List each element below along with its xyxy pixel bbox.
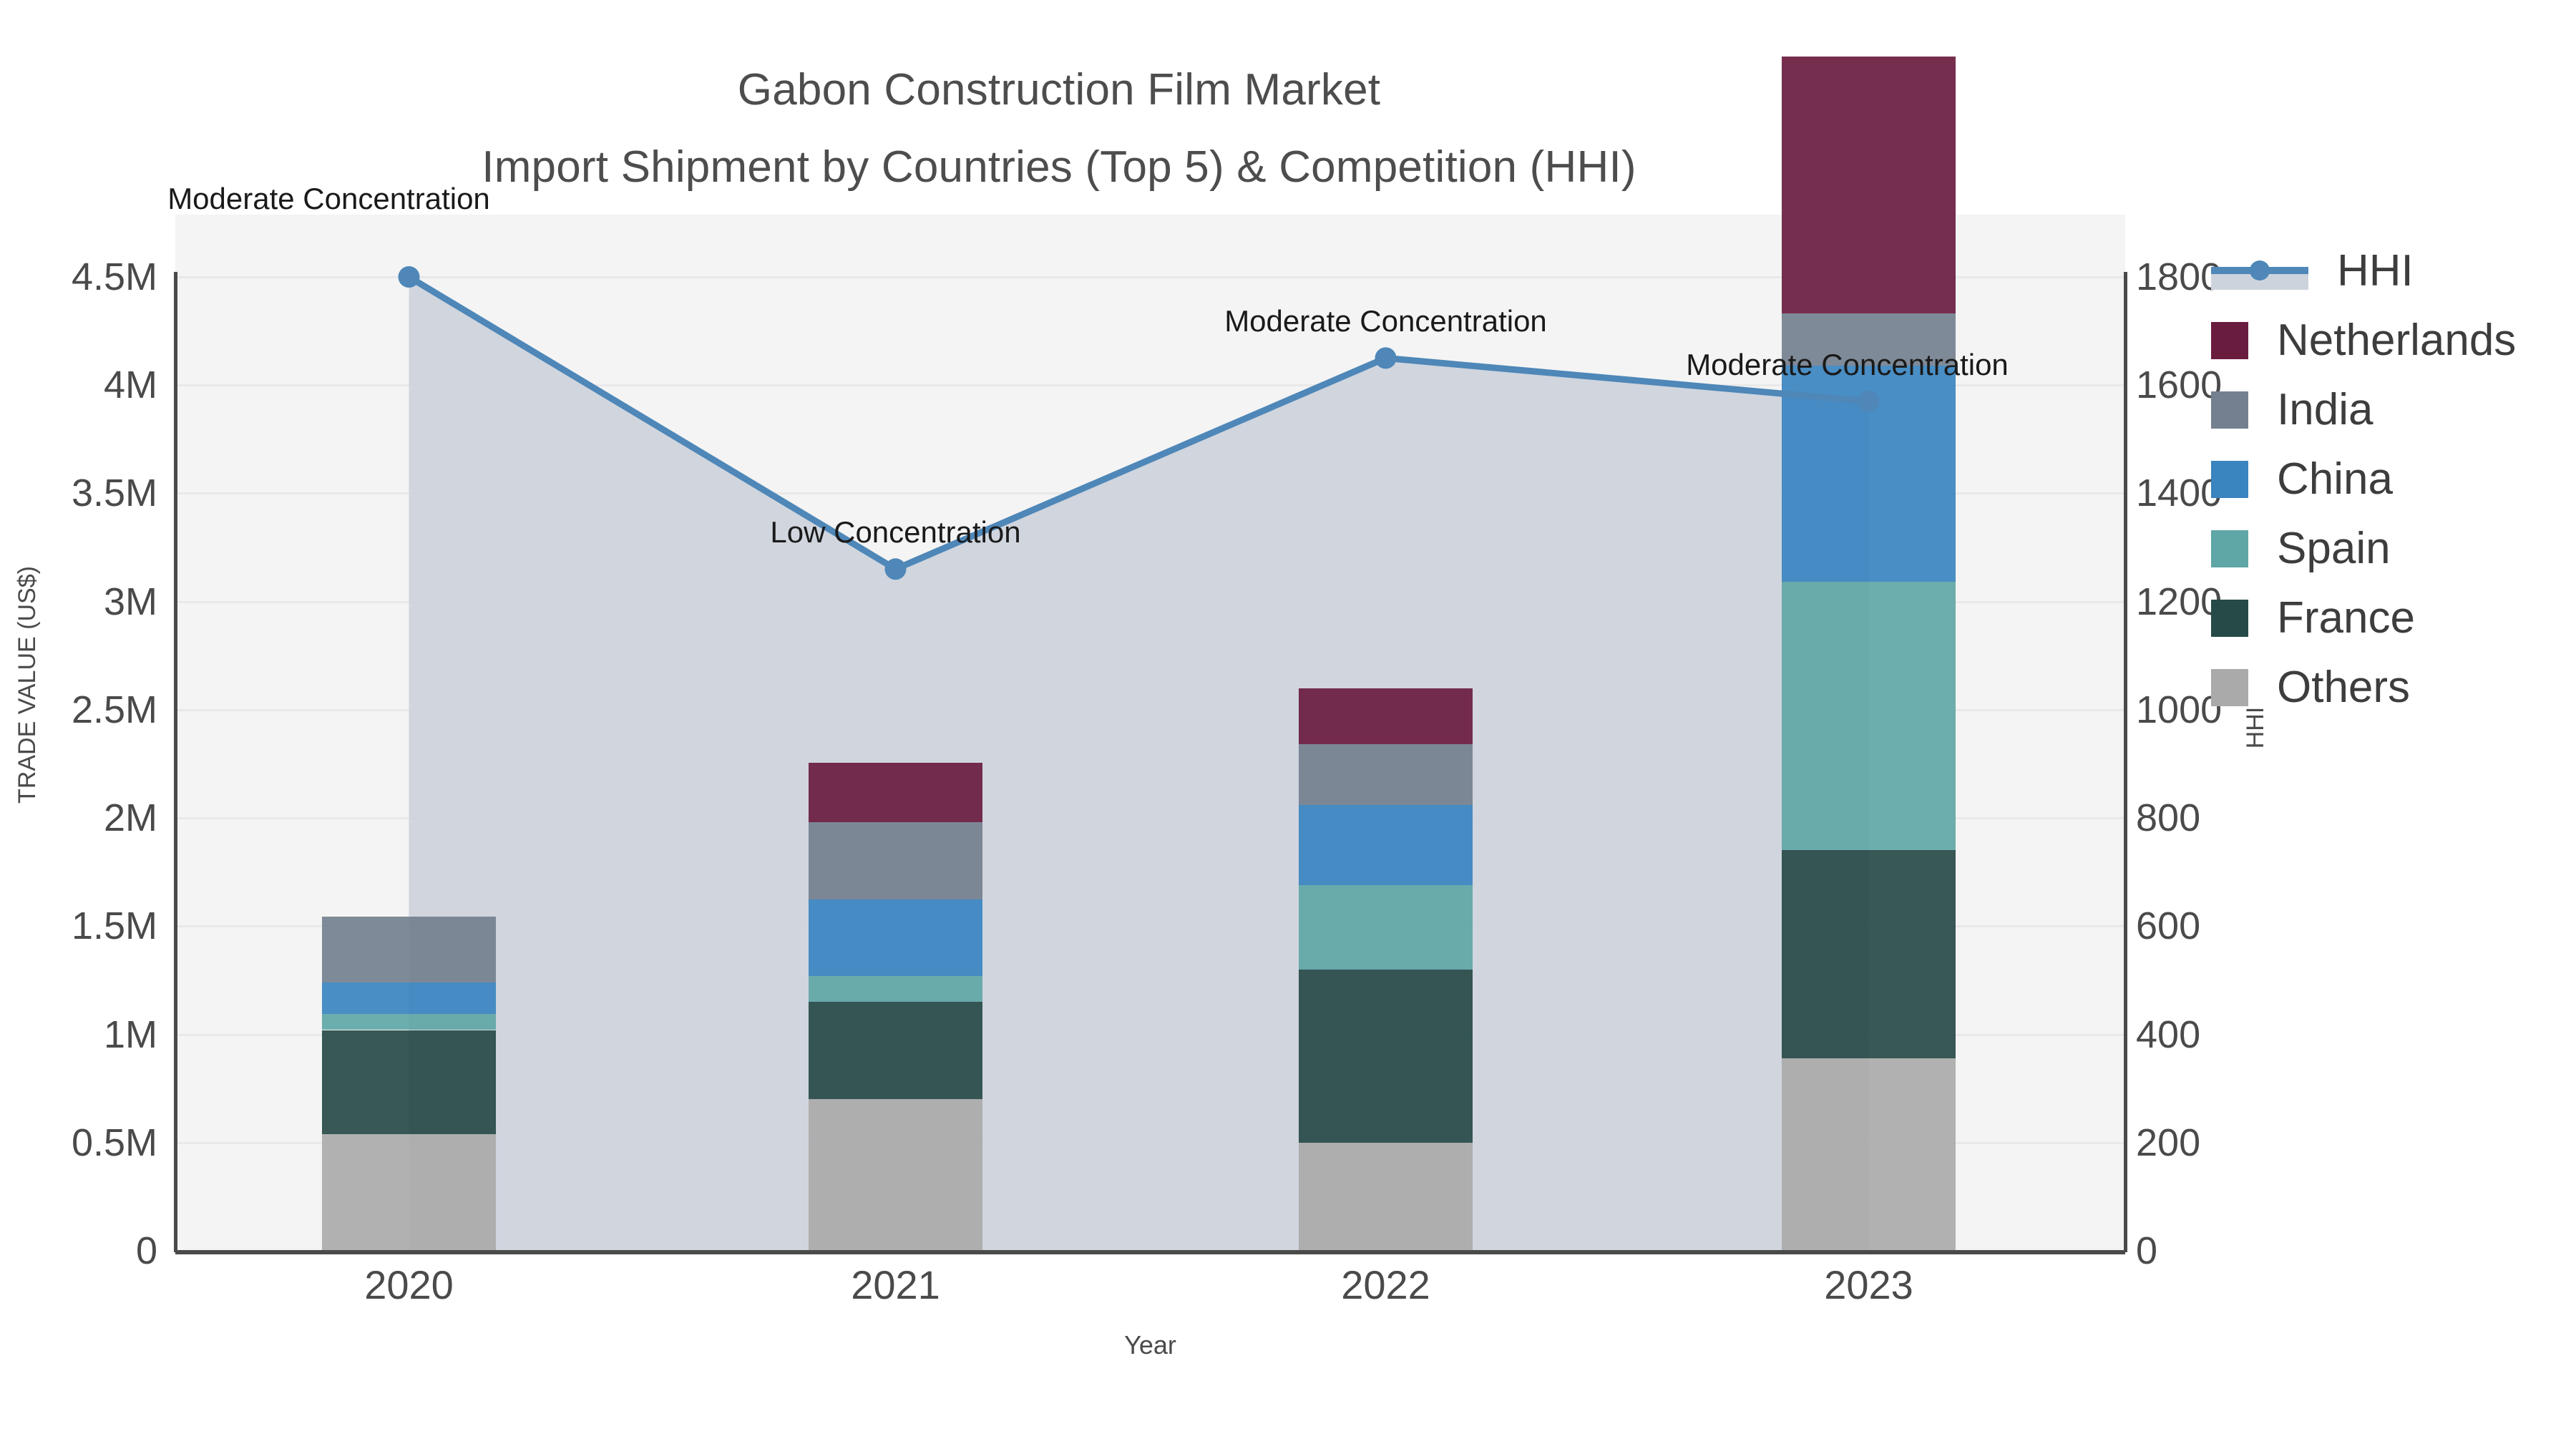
bar-segment[interactable] [809, 1002, 982, 1099]
hhi-annotation: Moderate Concentration [0, 184, 687, 214]
x-axis-tick-label: 2022 [1243, 1265, 1529, 1305]
bar-segment[interactable] [1782, 582, 1956, 850]
y-axis-left-title: TRADE VALUE (US$) [15, 535, 39, 835]
legend-item[interactable]: HHI [2211, 236, 2516, 306]
bar-segment[interactable] [322, 1030, 496, 1134]
bar-segment[interactable] [1782, 366, 1956, 582]
legend-swatch-icon [2211, 530, 2248, 567]
legend-swatch-icon [2211, 322, 2248, 359]
y-axis-left-tick-label: 4.5M [0, 258, 157, 296]
x-axis-tick-label: 2020 [266, 1265, 552, 1305]
legend-item-label: China [2277, 457, 2393, 502]
legend-swatch-icon [2211, 391, 2248, 429]
legend-item[interactable]: India [2211, 375, 2516, 444]
bar-segment[interactable] [1299, 1143, 1473, 1251]
legend-item-label: Spain [2277, 527, 2391, 571]
bar-segment[interactable] [809, 822, 982, 899]
bar-segment[interactable] [1299, 970, 1473, 1143]
legend-item-label: France [2277, 596, 2415, 640]
legend-item[interactable]: Netherlands [2211, 306, 2516, 375]
hhi-annotation: Moderate Concentration [1490, 350, 2205, 380]
x-axis-spine [175, 1250, 2125, 1254]
legend-item-label: Others [2277, 665, 2410, 710]
bar-segment[interactable] [1299, 805, 1473, 885]
bar-segment[interactable] [322, 917, 496, 982]
legend-swatch-icon [2211, 669, 2248, 706]
legend-item[interactable]: China [2211, 444, 2516, 514]
y-axis-left-tick-label: 4M [0, 366, 157, 404]
bar-segment[interactable] [809, 1099, 982, 1251]
bar-segment[interactable] [809, 899, 982, 976]
y-axis-right-tick-label: 600 [2136, 907, 2351, 945]
legend-item-label: Netherlands [2277, 318, 2516, 363]
bar-segment[interactable] [1299, 744, 1473, 805]
legend-swatch-icon [2211, 600, 2248, 637]
bar-segment[interactable] [1299, 688, 1473, 745]
chart-root: Gabon Construction Film Market Import Sh… [0, 0, 2576, 1449]
legend-item[interactable]: Others [2211, 653, 2516, 722]
bar-segment[interactable] [322, 1134, 496, 1251]
legend-item-label: India [2277, 388, 2373, 432]
y-axis-left-tick-label: 0 [0, 1231, 157, 1270]
y-axis-right-tick-label: 200 [2136, 1123, 2351, 1162]
y-axis-left-spine [174, 272, 177, 1252]
x-axis-tick-label: 2021 [753, 1265, 1039, 1305]
chart-legend: HHINetherlandsIndiaChinaSpainFranceOther… [2211, 236, 2516, 722]
x-axis-tick-label: 2023 [1726, 1265, 2012, 1305]
hhi-annotation: Low Concentration [538, 517, 1254, 547]
legend-item-label: HHI [2337, 249, 2414, 293]
legend-line-key-icon [2211, 253, 2308, 290]
bar-segment[interactable] [809, 976, 982, 1002]
bar-segment[interactable] [1782, 57, 1956, 314]
y-axis-left-tick-label: 1.5M [0, 907, 157, 945]
bar-segment[interactable] [322, 982, 496, 1014]
y-axis-left-tick-label: 0.5M [0, 1123, 157, 1162]
bar-segment[interactable] [322, 1014, 496, 1030]
legend-swatch-icon [2211, 461, 2248, 498]
bar-segment[interactable] [1782, 850, 1956, 1058]
bar-segment[interactable] [809, 763, 982, 822]
legend-item[interactable]: Spain [2211, 514, 2516, 583]
legend-item[interactable]: France [2211, 583, 2516, 653]
y-axis-left-tick-label: 1M [0, 1015, 157, 1054]
y-axis-left-tick-label: 3.5M [0, 474, 157, 512]
hhi-annotation: Moderate Concentration [1028, 306, 1744, 336]
y-axis-right-tick-label: 400 [2136, 1015, 2351, 1054]
x-axis-title: Year [175, 1332, 2125, 1358]
y-axis-right-spine [2124, 272, 2127, 1252]
bar-segment[interactable] [1782, 1058, 1956, 1251]
bar-segment[interactable] [1299, 885, 1473, 970]
y-axis-right-tick-label: 0 [2136, 1231, 2351, 1270]
